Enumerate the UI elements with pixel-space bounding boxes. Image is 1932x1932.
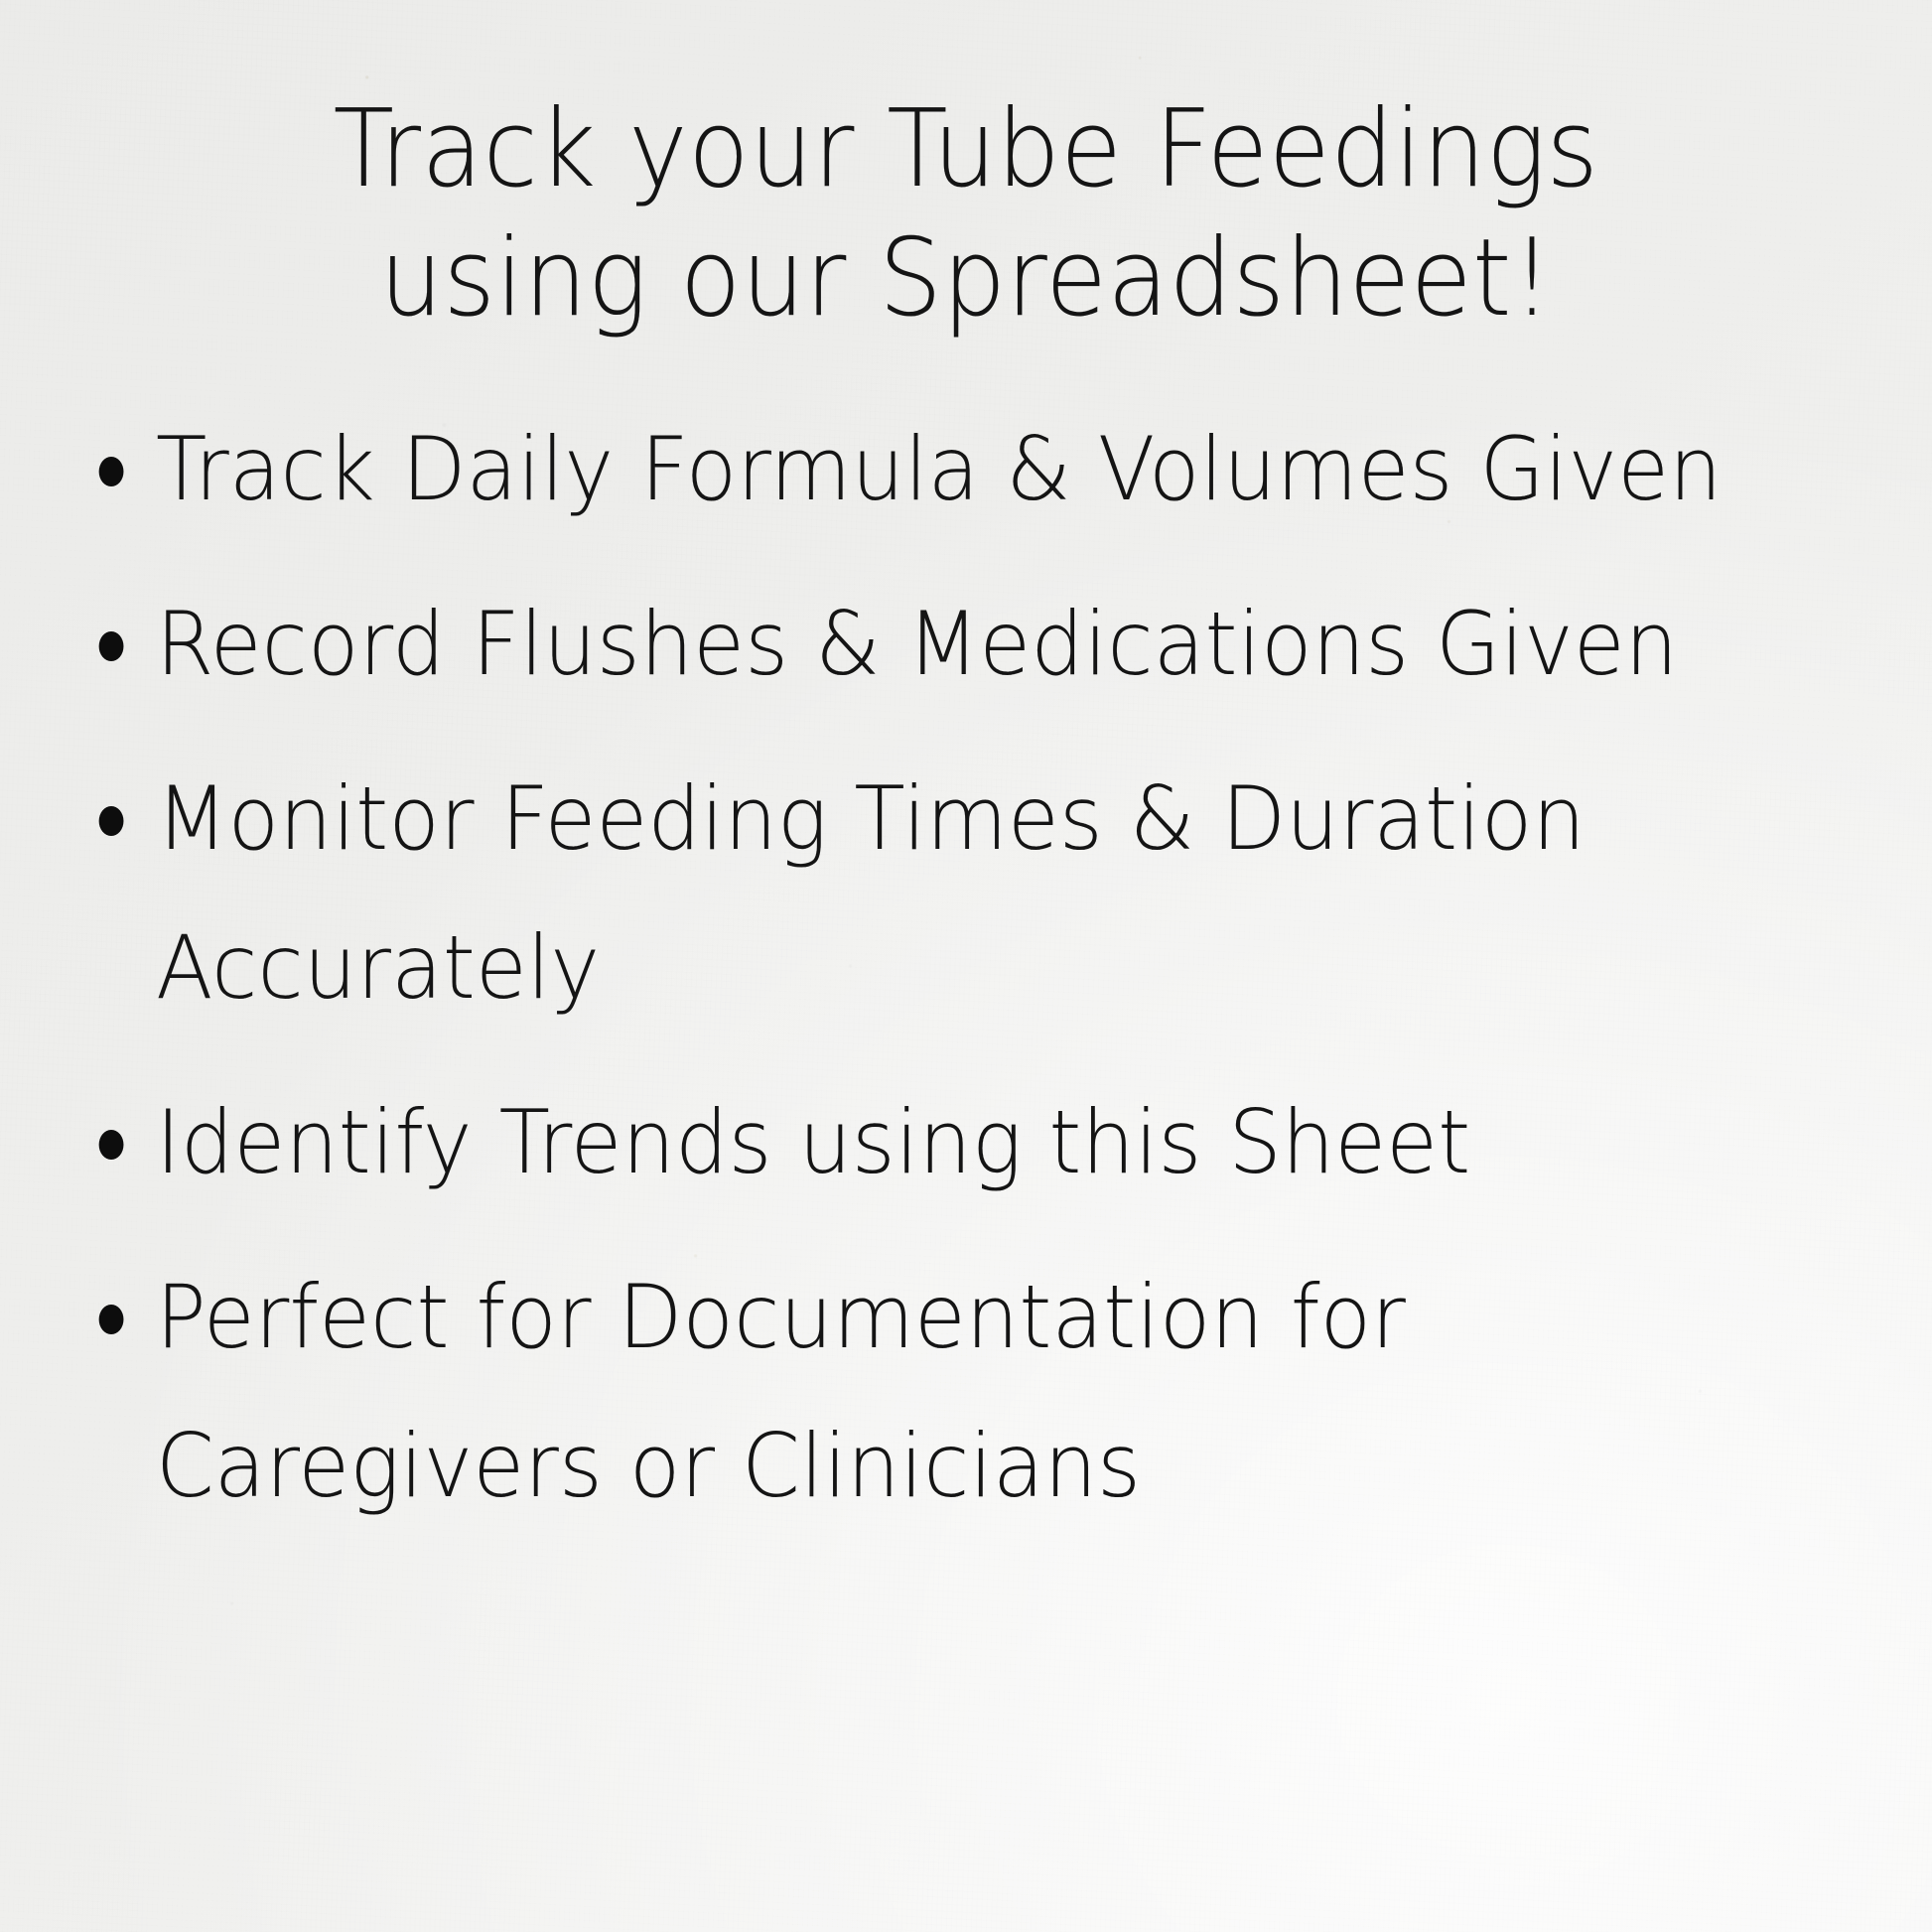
list-item: Record Flushes & Medications Given (91, 570, 1783, 719)
list-item: Monitor Feeding Times & Duration Accurat… (91, 745, 1783, 1042)
poster-canvas: Track your Tube Feedings using our Sprea… (0, 0, 1932, 1932)
bullet-dot-icon (99, 806, 124, 836)
page-title: Track your Tube Feedings using our Sprea… (68, 85, 1864, 344)
list-item: Identify Trends using this Sheet (91, 1068, 1783, 1217)
page-title-line-2: using our Spreadsheet! (207, 214, 1726, 344)
list-item-label: Perfect for Documentation for Caregivers… (156, 1243, 1783, 1541)
bullet-dot-icon (99, 457, 124, 486)
list-item: Perfect for Documentation for Caregivers… (91, 1243, 1783, 1541)
poster-content: Track your Tube Feedings using our Sprea… (0, 0, 1932, 1932)
bullet-dot-icon (99, 631, 124, 661)
list-item: Track Daily Formula & Volumes Given (91, 395, 1783, 544)
list-item-label: Identify Trends using this Sheet (156, 1068, 1783, 1217)
list-item-label: Monitor Feeding Times & Duration Accurat… (156, 745, 1783, 1042)
list-item-label: Record Flushes & Medications Given (156, 570, 1783, 719)
bullet-dot-icon (99, 1305, 124, 1334)
feature-bullet-list: Track Daily Formula & Volumes Given Reco… (91, 395, 1863, 1541)
page-title-line-1: Track your Tube Feedings (207, 85, 1726, 214)
bullet-dot-icon (99, 1130, 124, 1160)
list-item-label: Track Daily Formula & Volumes Given (156, 395, 1783, 544)
